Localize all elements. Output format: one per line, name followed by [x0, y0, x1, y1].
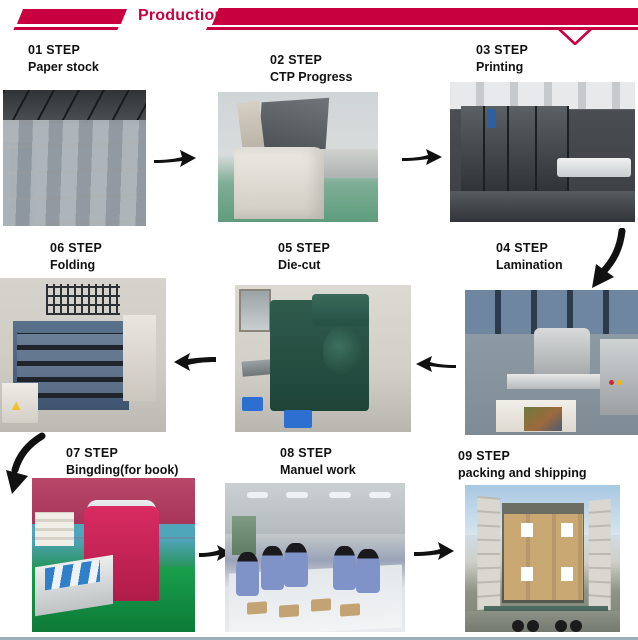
production-progress-infographic: Production progress 01 STEP Paper stock …	[0, 0, 638, 640]
curved-arrow-down-icon-right	[586, 228, 632, 294]
step-label-02: 02 STEP CTP Progress	[270, 52, 352, 86]
step-name-01: Paper stock	[28, 59, 99, 76]
step-name-02: CTP Progress	[270, 69, 352, 86]
photo-paper-folding-machine	[0, 278, 166, 432]
arrow-left-icon-2	[414, 352, 458, 376]
arrow-right-icon-4	[412, 538, 456, 564]
step-number-05: 05 STEP	[278, 240, 330, 257]
step-name-06: Folding	[50, 257, 102, 274]
step-number-01: 01 STEP	[28, 42, 99, 59]
photo-loaded-shipping-container	[465, 485, 620, 632]
step-label-06: 06 STEP Folding	[50, 240, 102, 274]
header-banner: Production progress	[0, 0, 638, 40]
step-name-09: packing and shipping	[458, 465, 586, 482]
banner-left-accent-block	[17, 9, 127, 24]
step-number-09: 09 STEP	[458, 448, 586, 465]
photo-manual-assembly-workers	[225, 483, 405, 632]
step-number-06: 06 STEP	[50, 240, 102, 257]
step-label-04: 04 STEP Lamination	[496, 240, 563, 274]
step-number-08: 08 STEP	[280, 445, 356, 462]
step-name-07: Bingding(for book)	[66, 462, 178, 479]
step-name-04: Lamination	[496, 257, 563, 274]
step-number-04: 04 STEP	[496, 240, 563, 257]
arrow-right-icon-2	[400, 145, 444, 169]
banner-right-bar	[212, 8, 638, 25]
chevron-down-icon	[558, 28, 592, 45]
photo-book-binding-machine	[32, 478, 195, 632]
step-label-03: 03 STEP Printing	[476, 42, 528, 76]
photo-offset-printing-press	[450, 82, 635, 222]
arrow-right-icon-1	[152, 145, 198, 171]
photo-die-cutting-machine	[235, 285, 411, 432]
photo-laminating-machine	[465, 290, 638, 435]
step-name-03: Printing	[476, 59, 528, 76]
photo-ctp-platesetter	[218, 92, 378, 222]
step-number-03: 03 STEP	[476, 42, 528, 59]
step-label-05: 05 STEP Die-cut	[278, 240, 330, 274]
step-name-05: Die-cut	[278, 257, 330, 274]
step-label-01: 01 STEP Paper stock	[28, 42, 99, 76]
banner-left-accent-rule	[13, 27, 118, 30]
step-name-08: Manuel work	[280, 462, 356, 479]
step-number-07: 07 STEP	[66, 445, 178, 462]
step-label-09: 09 STEP packing and shipping	[458, 448, 586, 482]
photo-paper-stock-warehouse	[3, 90, 146, 226]
step-label-08: 08 STEP Manuel work	[280, 445, 356, 479]
arrow-left-icon-1	[170, 348, 218, 374]
step-number-02: 02 STEP	[270, 52, 352, 69]
step-label-07: 07 STEP Bingding(for book)	[66, 445, 178, 479]
